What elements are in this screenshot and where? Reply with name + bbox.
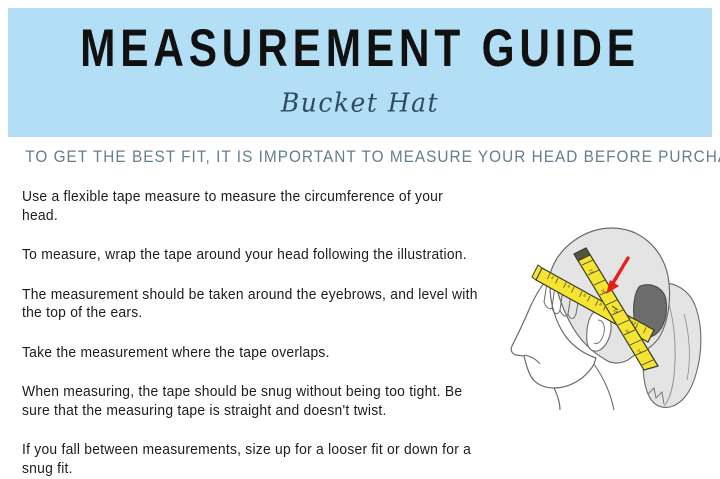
instruction-item: To measure, wrap the tape around your he…	[22, 246, 480, 265]
instruction-item: Take the measurement where the tape over…	[22, 344, 480, 363]
instruction-item: Use a flexible tape measure to measure t…	[22, 188, 480, 225]
head-measurement-illustration: 2 4 6 8 10 12	[488, 218, 712, 410]
instruction-item: If you fall between measurements, size u…	[22, 441, 480, 478]
instructions-list: Use a flexible tape measure to measure t…	[22, 188, 494, 478]
jaw-shoulder-line	[594, 364, 614, 410]
product-subtitle: Bucket Hat	[8, 87, 712, 119]
instruction-item: When measuring, the tape should be snug …	[22, 383, 480, 420]
neck-line	[554, 388, 560, 410]
tagline-text: TO GET THE BEST FIT, IT IS IMPORTANT TO …	[25, 147, 695, 167]
header-banner: MEASUREMENT GUIDE Bucket Hat	[8, 8, 712, 137]
measurement-guide-page: MEASUREMENT GUIDE Bucket Hat TO GET THE …	[0, 0, 720, 479]
page-title: MEASUREMENT GUIDE	[78, 22, 641, 76]
instruction-item: The measurement should be taken around t…	[22, 286, 480, 323]
